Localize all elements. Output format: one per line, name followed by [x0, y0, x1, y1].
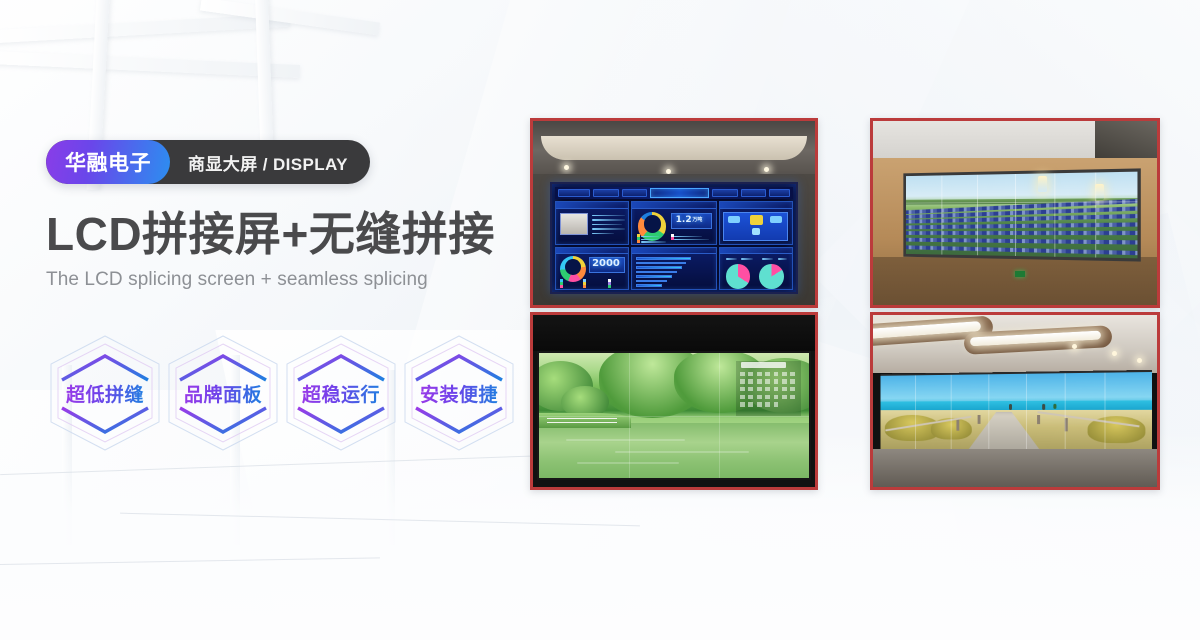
- rail-post: [1037, 415, 1040, 425]
- brand-name: 华融电子: [46, 140, 170, 184]
- water-highlight: [566, 439, 685, 441]
- text-line: [592, 228, 625, 230]
- calendar-cell: [748, 379, 753, 383]
- card-header: [632, 248, 715, 255]
- calendar-cell: [748, 387, 753, 391]
- page-title: LCD拼接屏+无缝拼接: [46, 210, 516, 259]
- floor: [873, 449, 1157, 487]
- calendar-cell: [765, 372, 770, 376]
- legend-label: [641, 241, 666, 243]
- ceiling: [533, 315, 815, 351]
- video-wall-screen: [880, 370, 1151, 457]
- calendar-cell: [790, 395, 795, 399]
- dashboard-card-donut-count: 2000: [555, 247, 629, 290]
- pie-chart: [726, 264, 751, 289]
- solar-row: [903, 244, 1140, 254]
- feature-badge-label: 品牌面板: [184, 380, 262, 407]
- stat-unit: 万吨: [692, 216, 702, 223]
- dashboard-nav-chip: [712, 189, 738, 197]
- headline-block: 华融电子 商显大屏 / DISPLAY LCD拼接屏+无缝拼接 The LCD …: [46, 140, 516, 291]
- sea-band: [880, 400, 1151, 410]
- stat-value: 1.2: [676, 215, 692, 225]
- calendar-cell: [740, 402, 745, 406]
- page-subtitle: The LCD splicing screen + seamless splic…: [46, 269, 516, 291]
- calendar-cell: [765, 402, 770, 406]
- panel-seam: [1104, 372, 1105, 453]
- dashboard-nav-chip: [593, 189, 619, 197]
- legend-label: [762, 258, 774, 260]
- calendar-cell: [765, 395, 770, 399]
- bar-row: [636, 257, 691, 259]
- calendar-header: [741, 362, 786, 369]
- card-header: [556, 202, 628, 209]
- calendar-cell: [782, 372, 787, 376]
- calendar-cell: [765, 379, 770, 383]
- bar-row: [636, 275, 672, 277]
- lcd-video-wall-banner: 华融电子 商显大屏 / DISPLAY LCD拼接屏+无缝拼接 The LCD …: [0, 0, 1200, 640]
- video-wall-screen: [537, 351, 811, 480]
- calendar-cell: [757, 379, 762, 383]
- dashboard-body: 1.2 万吨: [554, 201, 794, 291]
- calendar-cell: [790, 372, 795, 376]
- ceiling-beam: [200, 0, 380, 35]
- solar-row: [903, 230, 1140, 234]
- photo-content: [873, 315, 1157, 487]
- feature-badge-1: 超低拼缝: [46, 332, 164, 454]
- legend-label: [674, 236, 702, 238]
- legend-label: [778, 258, 787, 260]
- dashboard-title-banner: [650, 188, 709, 197]
- legend-label: [641, 239, 659, 241]
- pie-chart: [759, 264, 784, 289]
- railing: [547, 418, 617, 420]
- railing: [547, 422, 617, 424]
- dashboard-nav-chip: [769, 189, 790, 197]
- video-wall-screen: [903, 168, 1140, 261]
- floor-line: [120, 513, 640, 527]
- calendar-cell: [782, 387, 787, 391]
- panel-seam: [951, 375, 952, 452]
- calendar-cell: [757, 387, 762, 391]
- calendar-cell: [757, 372, 762, 376]
- water-highlight: [615, 451, 750, 453]
- legend-label: [641, 236, 659, 238]
- feature-badge-2: 品牌面板: [164, 332, 282, 454]
- calendar-cell: [790, 387, 795, 391]
- photo-solar-farm-video-wall: [870, 118, 1160, 308]
- legend-swatch: [560, 285, 563, 288]
- bar-row: [636, 262, 687, 264]
- brand-pill: 华融电子 商显大屏 / DISPLAY: [46, 140, 370, 184]
- video-wall-screen: 1.2 万吨: [550, 182, 798, 294]
- photo-beach-boardwalk-video-wall: [870, 312, 1160, 490]
- card-thumbnail: [560, 213, 589, 235]
- downlight-icon: [1112, 351, 1117, 356]
- bar-row: [636, 266, 682, 268]
- calendar-cell: [740, 387, 745, 391]
- photo-content: 1.2 万吨: [533, 121, 815, 305]
- stat-value: 2000: [592, 258, 620, 269]
- dashboard-timestamp: [558, 189, 591, 197]
- calendar-cell: [740, 395, 745, 399]
- calendar-cell: [774, 372, 779, 376]
- wall-sconce-icon: [1095, 184, 1104, 200]
- calendar-cell: [774, 379, 779, 383]
- calendar-overlay: [736, 361, 801, 416]
- panel-seam: [977, 174, 978, 255]
- card-header: [720, 202, 792, 209]
- flow-node: [750, 215, 763, 224]
- flow-node: [770, 216, 782, 223]
- wall-sconce-icon: [1038, 176, 1047, 192]
- calendar-cell: [774, 402, 779, 406]
- calendar-cell: [748, 395, 753, 399]
- feature-badge-label: 超稳运行: [302, 380, 380, 407]
- calendar-cell: [740, 372, 745, 376]
- text-line: [592, 219, 625, 221]
- bar-row: [636, 280, 667, 282]
- person-figure: [1009, 404, 1012, 410]
- photo-content: [533, 315, 815, 487]
- feature-badge-row: 超低拼缝 品牌面板: [46, 332, 518, 454]
- calendar-cell: [774, 387, 779, 391]
- calendar-cell: [782, 379, 787, 383]
- text-line: [592, 215, 625, 217]
- rail-post: [977, 415, 980, 424]
- card-header: [632, 202, 715, 209]
- legend-swatch: [608, 285, 611, 288]
- donut-hole: [644, 215, 662, 233]
- flow-node: [728, 216, 740, 223]
- feature-badge-4: 安装便捷: [400, 332, 518, 454]
- flow-node: [752, 228, 761, 235]
- solar-row: [903, 237, 1140, 244]
- text-line: [592, 233, 614, 235]
- panel-seam: [988, 374, 989, 452]
- panel-seam: [539, 416, 809, 417]
- bar-chart: [636, 257, 713, 286]
- dashboard-card-intro: [555, 201, 629, 244]
- ceiling-beam: [0, 14, 290, 44]
- dashboard-card-bar-ranking: [631, 247, 716, 290]
- legend-label: [741, 258, 753, 260]
- panel-seam: [941, 175, 942, 254]
- downlight-icon: [666, 169, 671, 174]
- card-header: [556, 248, 628, 255]
- text-line: [592, 224, 622, 226]
- calendar-cell: [782, 395, 787, 399]
- legend-swatch: [637, 240, 640, 243]
- panel-seam: [1015, 174, 1016, 256]
- product-category-label: 商显大屏 / DISPLAY: [170, 140, 370, 184]
- panel-seam: [915, 375, 916, 451]
- legend-label: [674, 239, 709, 241]
- bar-row: [636, 271, 677, 273]
- feature-badge-label: 安装便捷: [420, 380, 498, 407]
- calendar-cell: [765, 387, 770, 391]
- photo-content: [873, 121, 1157, 305]
- legend-label: [726, 258, 738, 260]
- legend-swatch: [583, 285, 586, 288]
- person-figure: [1042, 403, 1045, 409]
- calendar-cell: [740, 379, 745, 383]
- calendar-cell: [757, 402, 762, 406]
- dashboard-card-flow-diagram: [719, 201, 793, 244]
- bar-row: [636, 284, 663, 286]
- calendar-cell: [757, 395, 762, 399]
- person-figure: [1053, 403, 1056, 409]
- photo-lake-scenery-video-wall: [530, 312, 818, 490]
- solar-row: [903, 221, 1140, 228]
- panel-seam: [1065, 373, 1066, 453]
- feature-badge-3: 超稳运行: [282, 332, 400, 454]
- exit-sign-icon: [1015, 271, 1025, 277]
- dashboard-card-donut-stat: 1.2 万吨: [631, 201, 716, 244]
- calendar-cell: [790, 379, 795, 383]
- calendar-cell: [748, 372, 753, 376]
- photo-control-room-dashboard: 1.2 万吨: [530, 118, 818, 308]
- dashboard-nav-chip: [622, 189, 648, 197]
- dashboard-card-pie-pair: [719, 247, 793, 290]
- ceiling-cove: [541, 136, 806, 160]
- calendar-cell: [774, 395, 779, 399]
- feature-badge-label: 超低拼缝: [66, 380, 144, 407]
- dashboard-header: [555, 187, 793, 200]
- panel-seam: [1054, 173, 1055, 257]
- card-header: [720, 248, 792, 255]
- panel-seam: [1026, 374, 1027, 453]
- floor-line: [0, 557, 380, 565]
- wood-wainscot: [873, 257, 1157, 305]
- dashboard-nav-chip: [741, 189, 767, 197]
- ceiling-beam: [0, 51, 300, 78]
- calendar-cell: [748, 402, 753, 406]
